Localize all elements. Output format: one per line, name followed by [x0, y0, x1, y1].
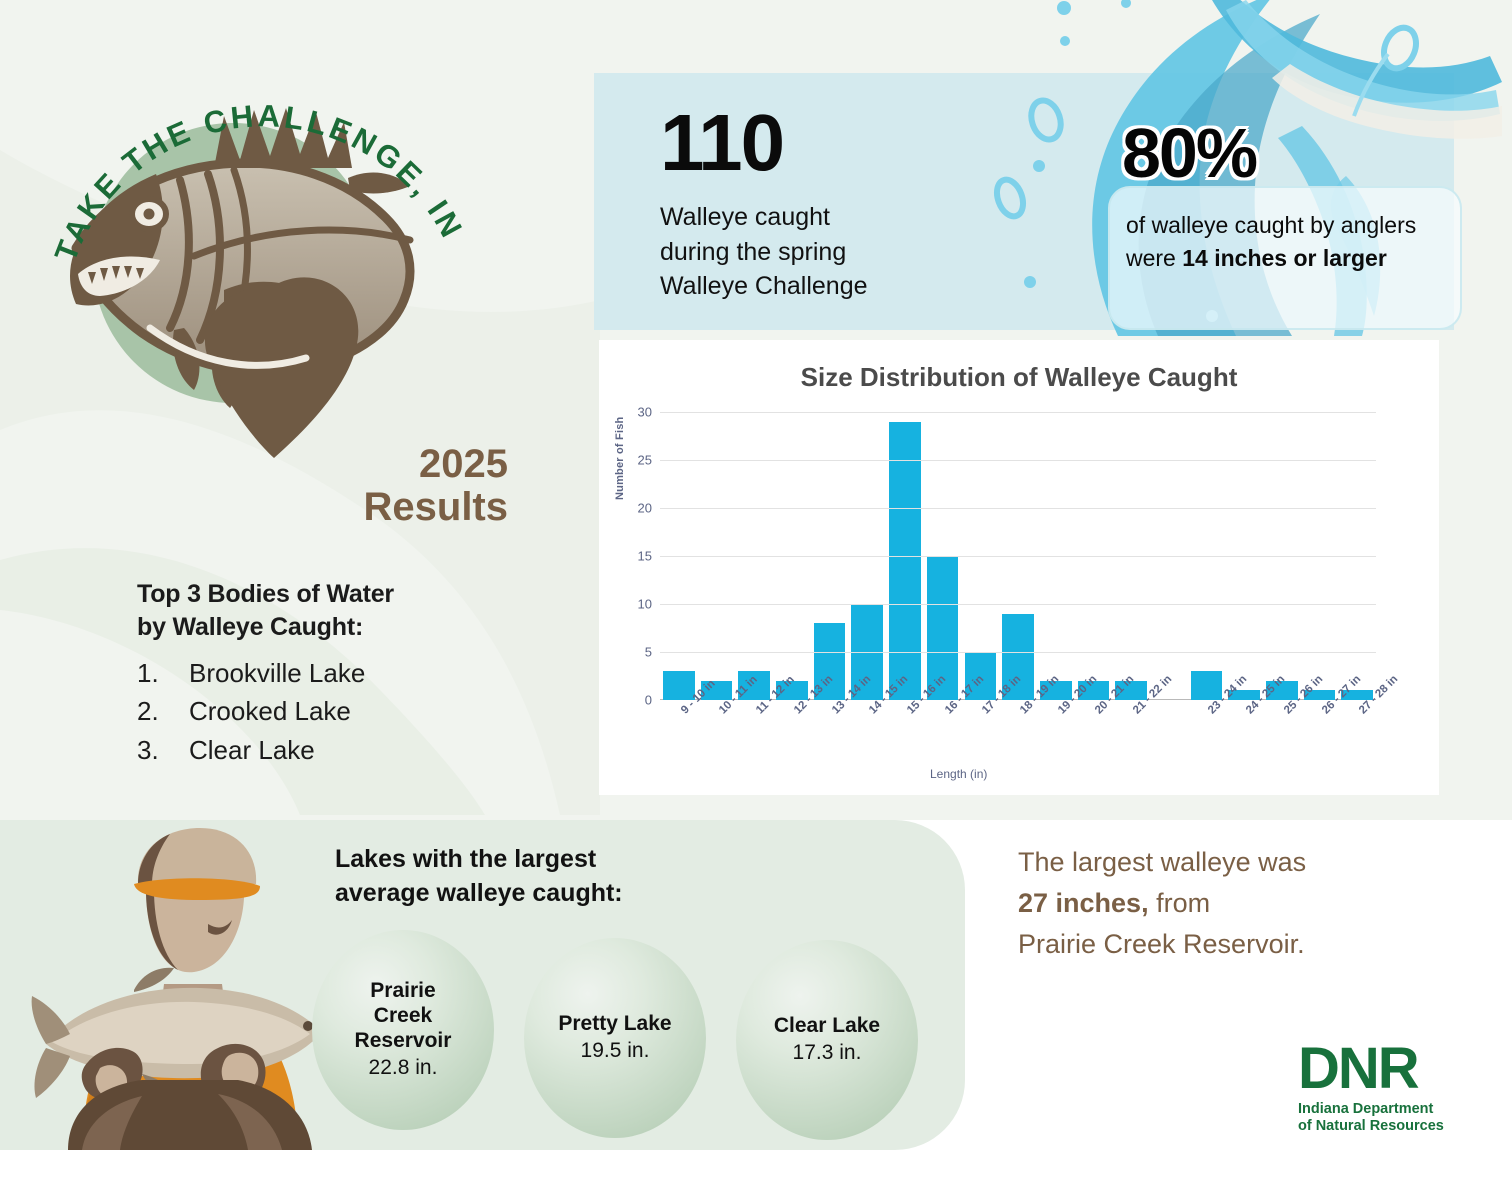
- list-item: 1. Brookville Lake: [137, 654, 537, 692]
- chart-x-tick-cell: 20 - 21 in: [1075, 704, 1113, 774]
- chart-y-tick: 5: [645, 645, 652, 660]
- lake-bubble-value: 22.8 in.: [369, 1055, 438, 1081]
- chart-x-tick-cell: 15 - 16 in: [886, 704, 924, 774]
- percent-value: 80%: [1122, 118, 1256, 188]
- logo-year: 2025: [318, 443, 508, 486]
- lake-bubble-value: 17.3 in.: [793, 1040, 862, 1066]
- percent-caption-bold: 14 inches or larger: [1182, 245, 1387, 271]
- top-3-list: 1. Brookville Lake 2. Crooked Lake 3. Cl…: [137, 654, 537, 769]
- largest-after-bold: from: [1149, 888, 1211, 918]
- count-caption-line2: during the spring: [660, 235, 990, 270]
- top-section: TAKE THE CHALLENGE, INDIANA! 2025 Result…: [0, 0, 1512, 812]
- chart-y-tick: 25: [638, 453, 652, 468]
- list-item-label: Crooked Lake: [189, 692, 351, 730]
- chart-x-tick-cell: 14 - 15 in: [848, 704, 886, 774]
- chart-x-tick-cell: 11 - 12 in: [735, 704, 773, 774]
- largest-walleye-callout: The largest walleye was 27 inches, from …: [1018, 842, 1448, 965]
- lake-bubble-name: Clear Lake: [774, 1014, 880, 1039]
- walleye-count-caption: Walleye caught during the spring Walleye…: [660, 200, 990, 304]
- chart-y-tick: 0: [645, 693, 652, 708]
- logo-results: Results: [318, 486, 508, 529]
- chart-x-tick-cell: 26 - 27 in: [1301, 704, 1339, 774]
- chart-y-axis-label: Number of Fish: [614, 417, 626, 500]
- lake-bubble: PrairieCreekReservoir 22.8 in.: [312, 930, 494, 1130]
- chart-y-tick: 10: [638, 597, 652, 612]
- chart-gridline: [660, 604, 1376, 605]
- chart-x-tick-cell: 13 - 14 in: [811, 704, 849, 774]
- dnr-subtitle-line1: Indiana Department: [1298, 1101, 1468, 1118]
- lake-average-bubbles: PrairieCreekReservoir 22.8 in. Pretty La…: [312, 930, 932, 1140]
- lakes-title-line1: Lakes with the largest: [335, 842, 755, 876]
- chart-gridline: [660, 412, 1376, 413]
- list-item-label: Brookville Lake: [189, 654, 365, 692]
- top-3-bodies-of-water: Top 3 Bodies of Water by Walleye Caught:…: [137, 578, 537, 769]
- dnr-logo: DNR Indiana Department of Natural Resour…: [1298, 1040, 1468, 1145]
- year-results-label: 2025 Results: [318, 443, 508, 529]
- lake-bubble-name: PrairieCreekReservoir: [355, 979, 452, 1053]
- chart-x-tick-cell: 17 - 18 in: [962, 704, 1000, 774]
- chart-x-tick-cell: 21 - 22 in: [1112, 704, 1150, 774]
- top-3-title: Top 3 Bodies of Water by Walleye Caught:: [137, 578, 537, 644]
- list-item-number: 3.: [137, 731, 189, 769]
- walleye-count-value: 110: [660, 103, 783, 183]
- chart-gridline: [660, 652, 1376, 653]
- lake-bubble-name: Pretty Lake: [558, 1012, 671, 1037]
- lake-bubble: Pretty Lake 19.5 in.: [524, 938, 706, 1138]
- chart-y-tick: 15: [638, 549, 652, 564]
- chart-plot-area: 051015202530: [660, 412, 1376, 700]
- chart-x-tick-labels: 9 - 10 in10 - 11 in11 - 12 in12 - 13 in1…: [660, 704, 1376, 774]
- chart-x-tick-cell: 19 - 20 in: [1037, 704, 1075, 774]
- percent-caption: of walleye caught by anglers were 14 inc…: [1126, 209, 1451, 275]
- top-3-title-line2: by Walleye Caught:: [137, 611, 537, 644]
- largest-line2: 27 inches, from: [1018, 883, 1448, 924]
- largest-line1: The largest walleye was: [1018, 842, 1448, 883]
- lake-bubble: Clear Lake 17.3 in.: [736, 940, 918, 1140]
- chart-x-tick-cell: 12 - 13 in: [773, 704, 811, 774]
- list-item-number: 1.: [137, 654, 189, 692]
- chart-gridline: [660, 556, 1376, 557]
- chart-x-tick-cell: 9 - 10 in: [660, 704, 698, 774]
- top-3-title-line1: Top 3 Bodies of Water: [137, 578, 537, 611]
- lake-bubble-value: 19.5 in.: [581, 1038, 650, 1064]
- list-item: 3. Clear Lake: [137, 731, 537, 769]
- largest-measure: 27 inches,: [1018, 888, 1149, 918]
- chart-x-tick-cell: [1150, 704, 1188, 774]
- chart-x-tick-cell: 25 - 26 in: [1263, 704, 1301, 774]
- walleye-fish-icon: TAKE THE CHALLENGE, INDIANA!: [18, 28, 498, 458]
- chart-x-tick-cell: 10 - 11 in: [698, 704, 736, 774]
- chart-x-tick-cell: 16 - 17 in: [924, 704, 962, 774]
- count-caption-line1: Walleye caught: [660, 200, 990, 235]
- chart-y-tick: 30: [638, 405, 652, 420]
- chart-x-axis-label: Length (in): [930, 767, 987, 781]
- lakes-title-line2: average walleye caught:: [335, 876, 755, 910]
- dnr-subtitle: Indiana Department of Natural Resources: [1298, 1101, 1468, 1136]
- chart-gridline: [660, 508, 1376, 509]
- chart-y-tick: 20: [638, 501, 652, 516]
- count-caption-line3: Walleye Challenge: [660, 269, 990, 304]
- challenge-logo: TAKE THE CHALLENGE, INDIANA! 2025 Result…: [18, 28, 498, 528]
- dnr-subtitle-line2: of Natural Resources: [1298, 1118, 1468, 1135]
- list-item-number: 2.: [137, 692, 189, 730]
- angler-holding-walleye-photo: [22, 828, 352, 1150]
- chart-bar: [889, 422, 921, 700]
- dnr-wordmark: DNR: [1298, 1040, 1468, 1098]
- chart-x-tick-cell: 27 - 28 in: [1338, 704, 1376, 774]
- chart-x-tick-cell: 24 - 25 in: [1225, 704, 1263, 774]
- chart-title: Size Distribution of Walleye Caught: [599, 362, 1439, 393]
- chart-x-tick-cell: 23 - 24 in: [1188, 704, 1226, 774]
- largest-line3: Prairie Creek Reservoir.: [1018, 924, 1448, 965]
- chart-x-tick-cell: 18 - 19 in: [999, 704, 1037, 774]
- list-item: 2. Crooked Lake: [137, 692, 537, 730]
- lakes-panel-title: Lakes with the largest average walleye c…: [335, 842, 755, 910]
- chart-gridline: [660, 460, 1376, 461]
- list-item-label: Clear Lake: [189, 731, 315, 769]
- bottom-section: Lakes with the largest average walleye c…: [0, 820, 1512, 1188]
